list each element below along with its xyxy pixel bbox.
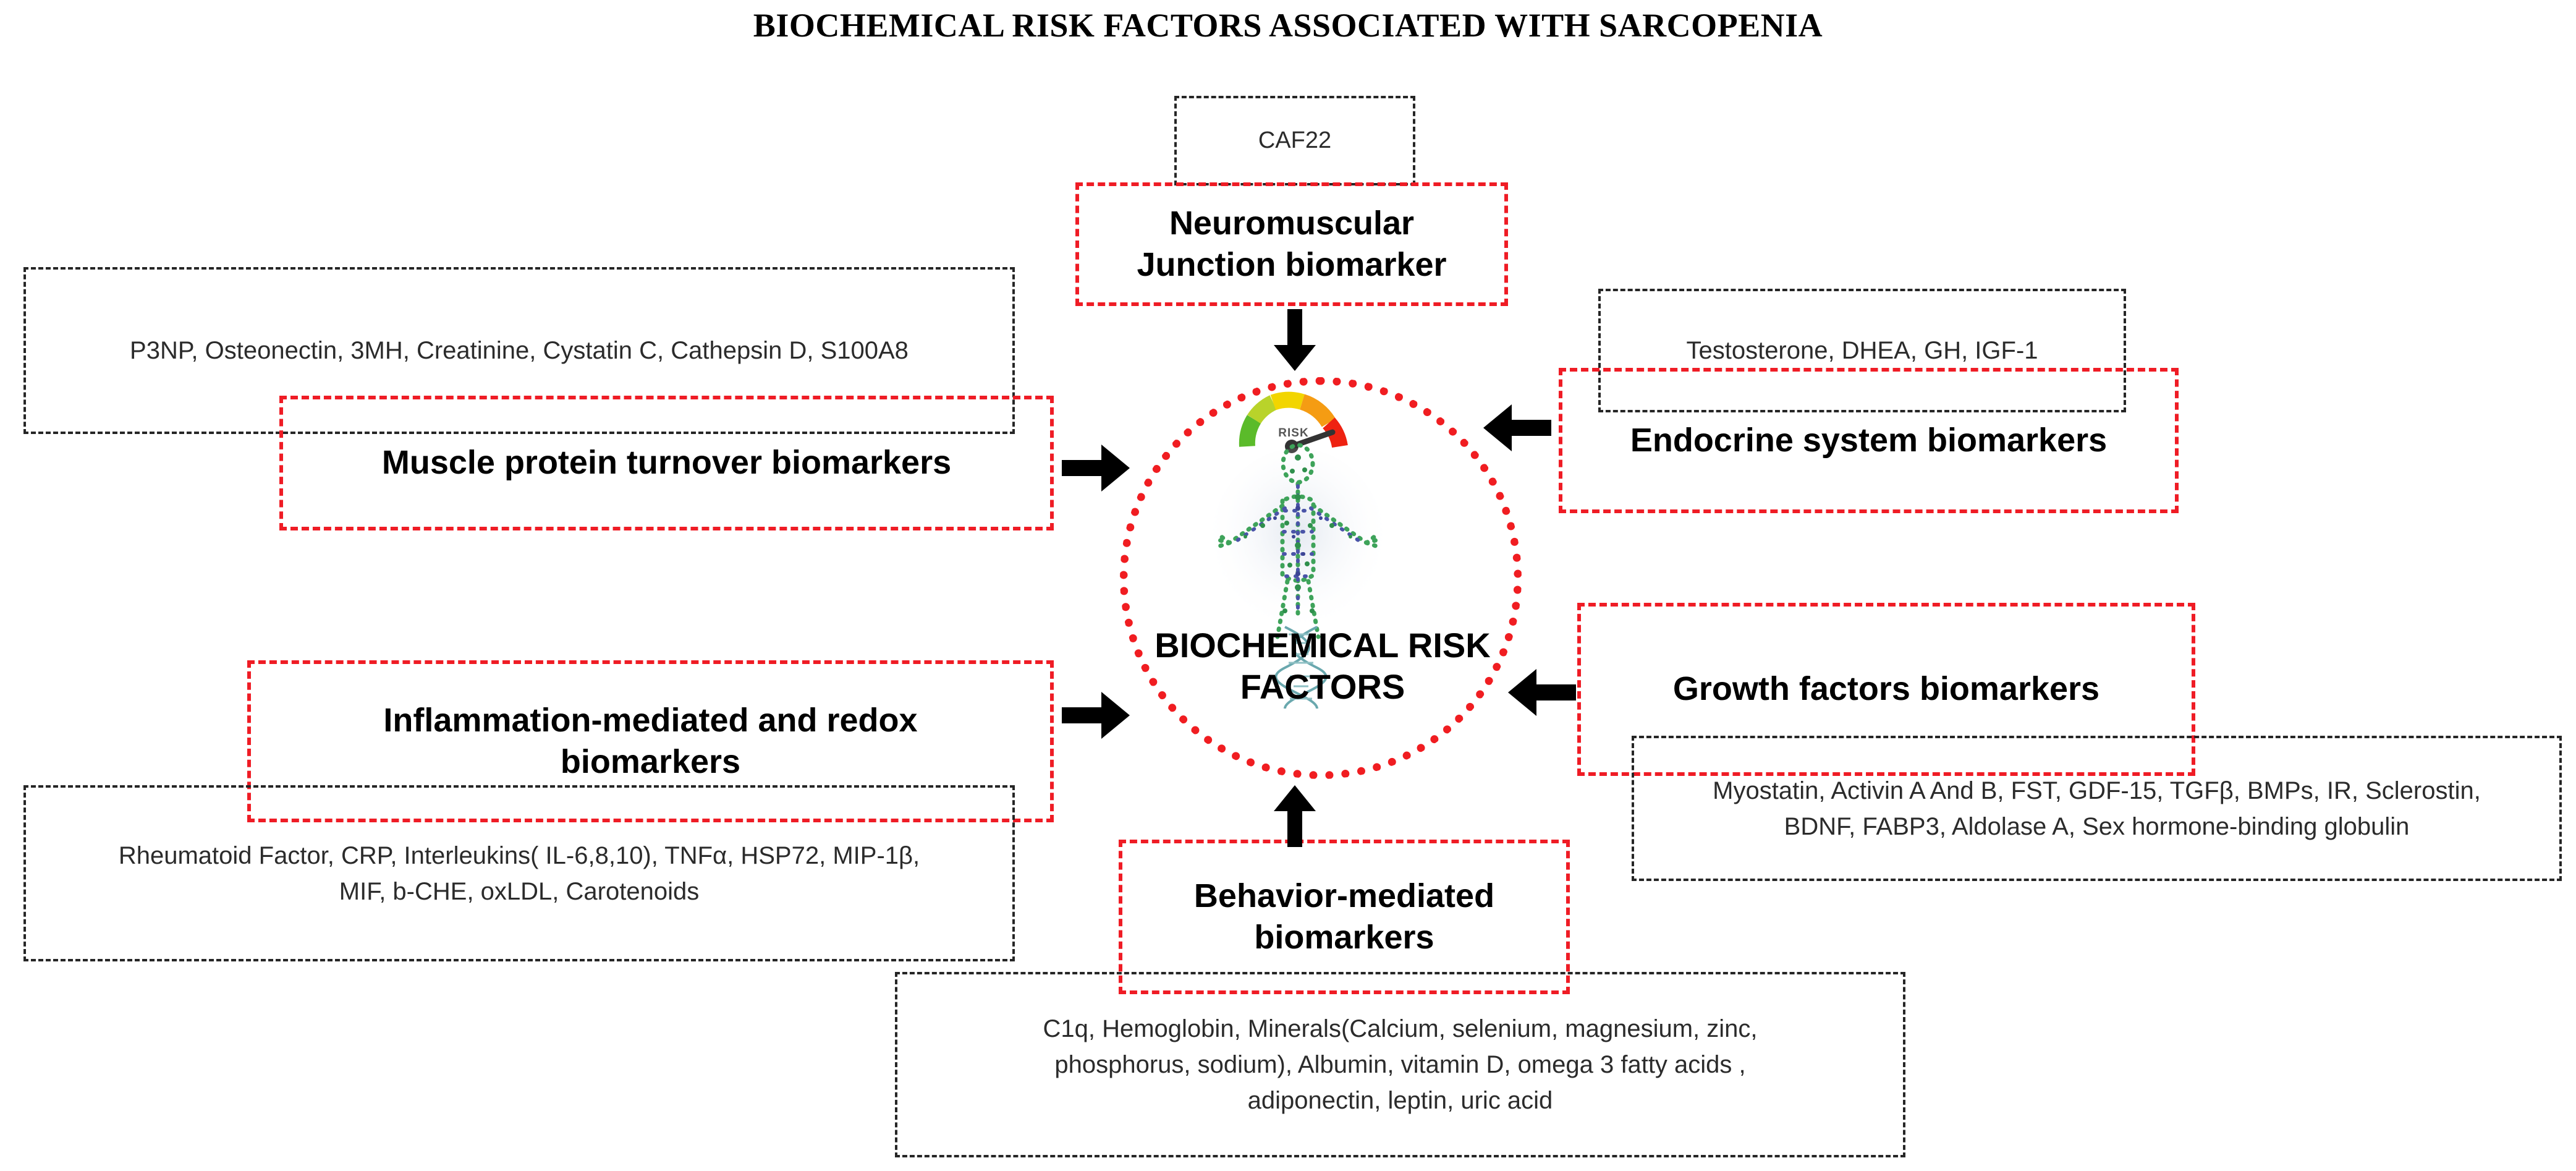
category-label-inflammation-redox-line1: Inflammation-mediated and redox	[370, 700, 931, 742]
detail-text-caf22: CAF22	[1258, 127, 1331, 154]
detail-text-muscle-protein-turnover: P3NP, Osteonectin, 3MH, Creatinine, Cyst…	[114, 333, 925, 368]
category-box-neuromuscular[interactable]: Neuromuscular Junction biomarker	[1075, 182, 1508, 306]
detail-text-behavior-mediated-line1: C1q, Hemoglobin, Minerals(Calcium, selen…	[1027, 1011, 1774, 1047]
category-box-muscle-protein-turnover[interactable]: Muscle protein turnover biomarkers	[279, 396, 1054, 530]
category-label-inflammation-redox-line2: biomarkers	[547, 741, 754, 783]
detail-text-behavior-mediated-line2: phosphorus, sodium), Albumin, vitamin D,…	[1038, 1047, 1761, 1083]
page-title: BIOCHEMICAL RISK FACTORS ASSOCIATED WITH…	[0, 6, 2576, 45]
category-label-growth-factors: Growth factors biomarkers	[1659, 668, 2113, 710]
category-box-behavior-mediated[interactable]: Behavior-mediated biomarkers	[1119, 840, 1570, 994]
detail-text-inflammation-redox-line1: Rheumatoid Factor, CRP, Interleukins( IL…	[103, 838, 936, 874]
arrow-behavior-mediated-to-center	[1270, 785, 1320, 847]
center-label: BIOCHEMICAL RISK FACTORS	[1112, 624, 1533, 707]
center-label-line1: BIOCHEMICAL RISK	[1112, 624, 1533, 666]
center-label-line2: FACTORS	[1112, 666, 1533, 707]
category-label-endocrine-system: Endocrine system biomarkers	[1617, 420, 2121, 462]
detail-box-neuromuscular: CAF22	[1174, 96, 1415, 185]
detail-box-inflammation-redox: Rheumatoid Factor, CRP, Interleukins( IL…	[23, 785, 1015, 961]
detail-text-growth-factors-line1: Myostatin, Activin A And B, FST, GDF-15,…	[1697, 773, 2497, 809]
category-label-neuromuscular-line2: Junction biomarker	[1123, 244, 1460, 286]
category-label-muscle-protein-turnover: Muscle protein turnover biomarkers	[368, 442, 965, 484]
detail-box-behavior-mediated: C1q, Hemoglobin, Minerals(Calcium, selen…	[895, 972, 1905, 1157]
category-label-behavior-mediated-line2: biomarkers	[1240, 917, 1447, 959]
arrow-neuromuscular-to-center	[1270, 309, 1320, 371]
category-label-behavior-mediated-line1: Behavior-mediated	[1180, 875, 1508, 918]
detail-text-inflammation-redox-line2: MIF, b-CHE, oxLDL, Carotenoids	[323, 874, 715, 909]
detail-box-growth-factors: Myostatin, Activin A And B, FST, GDF-15,…	[1632, 736, 2562, 881]
arrow-endocrine-system-to-center	[1483, 402, 1551, 454]
detail-text-behavior-mediated-line3: adiponectin, leptin, uric acid	[1232, 1083, 1569, 1118]
category-label-neuromuscular-line1: Neuromuscular	[1156, 203, 1428, 245]
detail-text-endocrine-system: Testosterone, DHEA, GH, IGF-1	[1670, 333, 2054, 368]
arrow-muscle-protein-turnover-to-center	[1062, 442, 1130, 495]
category-box-endocrine-system[interactable]: Endocrine system biomarkers	[1559, 368, 2179, 513]
detail-text-growth-factors-line2: BDNF, FABP3, Aldolase A, Sex hormone-bin…	[1768, 809, 2426, 845]
